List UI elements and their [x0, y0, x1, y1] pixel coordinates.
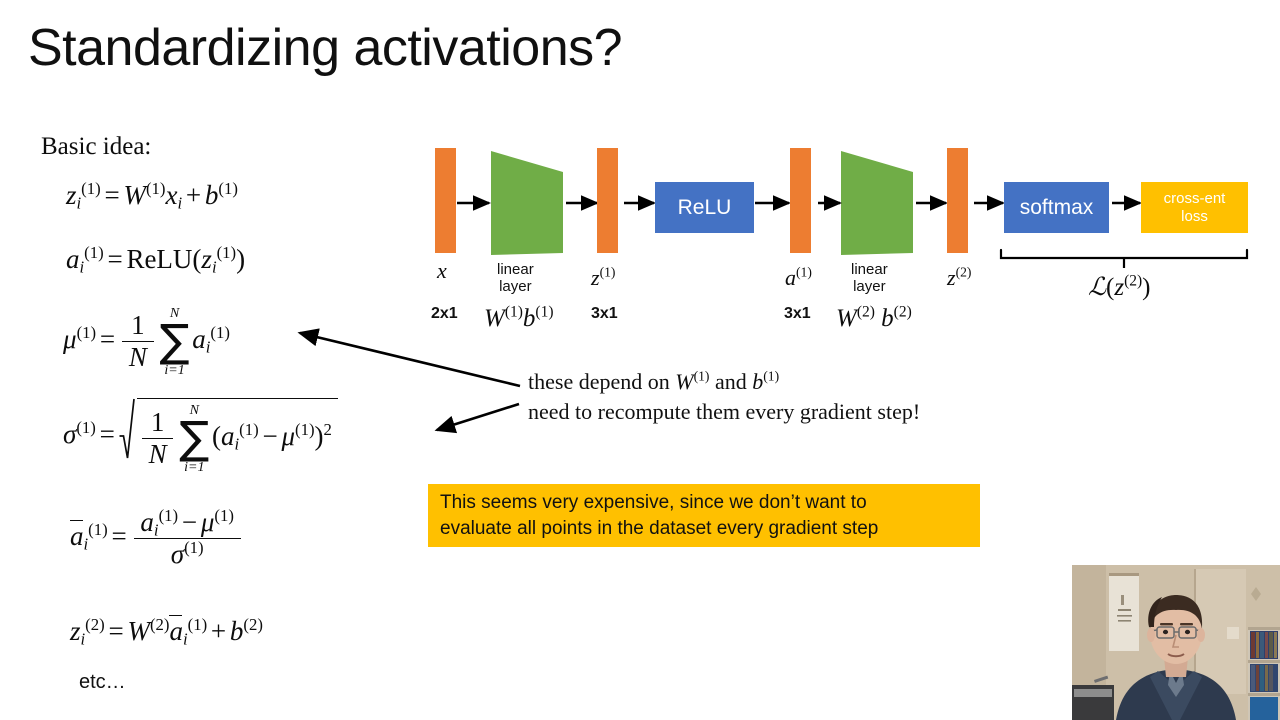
callout-line-2: need to recompute them every gradient st… — [528, 397, 920, 427]
label-loss-function: ℒ(z(2)) — [1088, 272, 1150, 302]
softmax-block[interactable]: softmax — [1004, 182, 1109, 233]
label-z1: z(1) — [591, 265, 615, 291]
label-linear-layer-2: linear layer — [851, 262, 888, 296]
label-x-dim: 2x1 — [431, 305, 458, 323]
loss-brace — [1001, 250, 1247, 268]
label-x: x — [437, 258, 447, 284]
callout-arrow-to-sigma — [437, 404, 519, 430]
cross-ent-loss-block[interactable]: cross-ent loss — [1141, 182, 1248, 233]
webcam-video-frame — [1072, 565, 1280, 720]
label-W1-b1: W(1)b(1) — [484, 305, 553, 333]
cross-ent-loss-line1: cross-ent — [1164, 190, 1226, 207]
linear-layer-2-line2: layer — [853, 278, 886, 295]
linear-layer-1-line2: layer — [499, 278, 532, 295]
linear-layer-2-line1: linear — [851, 261, 888, 278]
label-a1: a(1) — [785, 265, 812, 291]
label-W2-b2: W(2) b(2) — [836, 305, 912, 333]
relu-block[interactable]: ReLU — [655, 182, 754, 233]
highlight-callout-box: This seems very expensive, since we don’… — [428, 484, 980, 547]
label-a1-dim: 3x1 — [784, 305, 811, 323]
highlight-text: This seems very expensive, since we don’… — [440, 490, 878, 541]
linear-layer-1-shape — [491, 151, 563, 255]
callout-arrow-to-mu — [300, 333, 520, 386]
activation-bar-a1 — [790, 148, 811, 253]
cross-ent-loss-line2: loss — [1181, 208, 1208, 225]
activation-bar-x — [435, 148, 456, 253]
activation-bar-z1 — [597, 148, 618, 253]
linear-layer-1-line1: linear — [497, 261, 534, 278]
callout-annotation: these depend on W(1) and b(1) need to re… — [528, 367, 920, 428]
highlight-line-2: evaluate all points in the dataset every… — [440, 518, 878, 539]
label-z1-dim: 3x1 — [591, 305, 618, 323]
presenter-webcam-overlay[interactable] — [1072, 565, 1280, 720]
label-z2: z(2) — [947, 265, 971, 291]
highlight-line-1: This seems very expensive, since we don’… — [440, 492, 867, 513]
linear-layer-2-shape — [841, 151, 913, 255]
label-linear-layer-1: linear layer — [497, 262, 534, 296]
activation-bar-z2 — [947, 148, 968, 253]
slide-canvas: Standardizing activations? Basic idea: z… — [0, 0, 1280, 720]
callout-line-1: these depend on W(1) and b(1) — [528, 367, 920, 397]
